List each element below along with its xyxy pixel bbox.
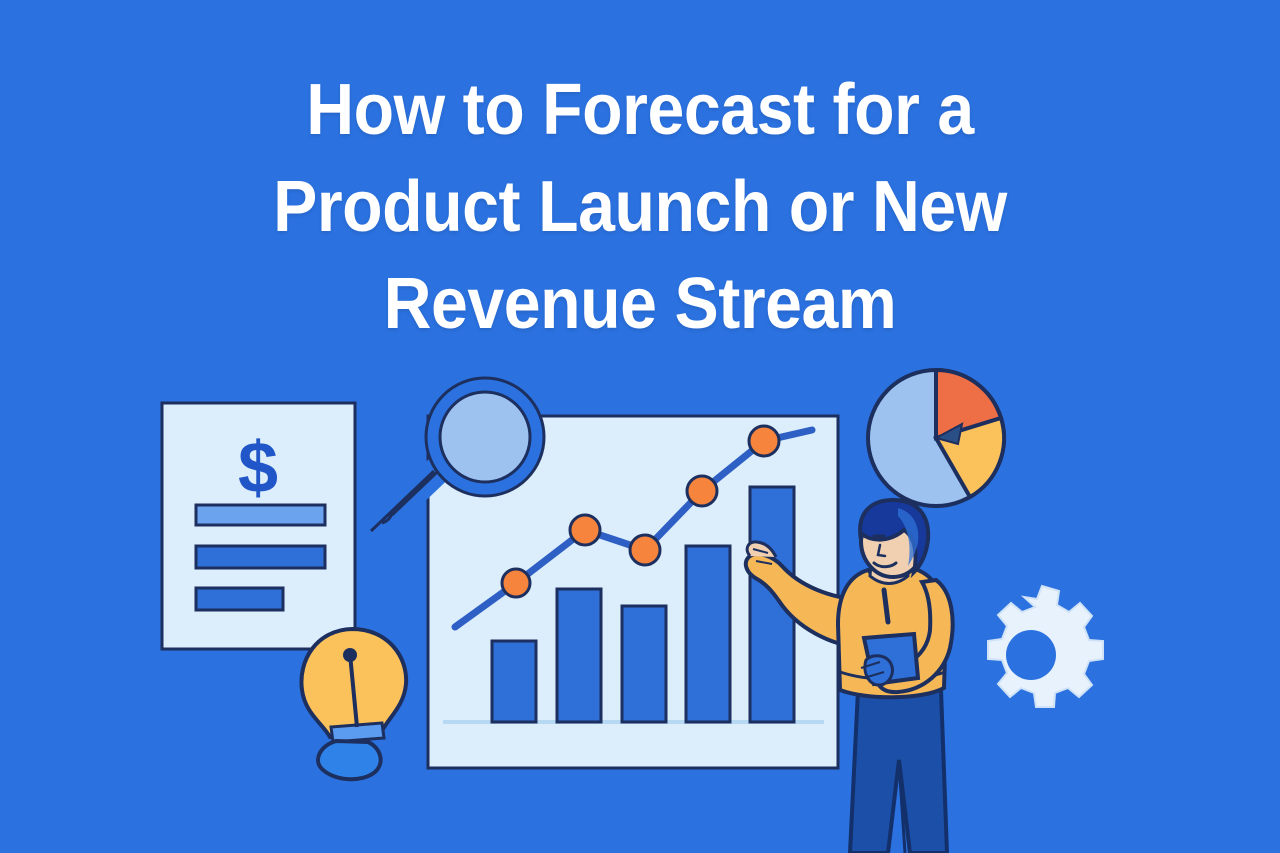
pie-chart-icon: [868, 370, 1004, 506]
chart-data-point: [502, 569, 530, 597]
dollar-sign-icon: $: [238, 428, 278, 508]
chart-data-point: [687, 476, 717, 506]
forecasting-hero-illustration: $: [0, 0, 1280, 853]
gear-icon: [988, 586, 1103, 707]
lightbulb-icon: [301, 629, 406, 779]
document-line: [196, 505, 325, 525]
chart-bar: [557, 589, 601, 722]
svg-text:$: $: [238, 428, 278, 508]
chart-bar: [686, 546, 730, 722]
poster-canvas: How to Forecast for a Product Launch or …: [0, 0, 1280, 853]
chart-data-point: [630, 535, 660, 565]
chart-bar: [492, 641, 536, 722]
presenter-head: [860, 500, 928, 577]
document-line: [196, 588, 283, 610]
document-line: [196, 546, 325, 568]
chart-data-point: [570, 515, 600, 545]
financial-document-icon: $: [162, 403, 355, 649]
chart-data-point: [749, 426, 779, 456]
presenter-tablet: [861, 634, 918, 685]
chart-bar: [622, 606, 666, 722]
presenter-legs: [850, 690, 947, 853]
